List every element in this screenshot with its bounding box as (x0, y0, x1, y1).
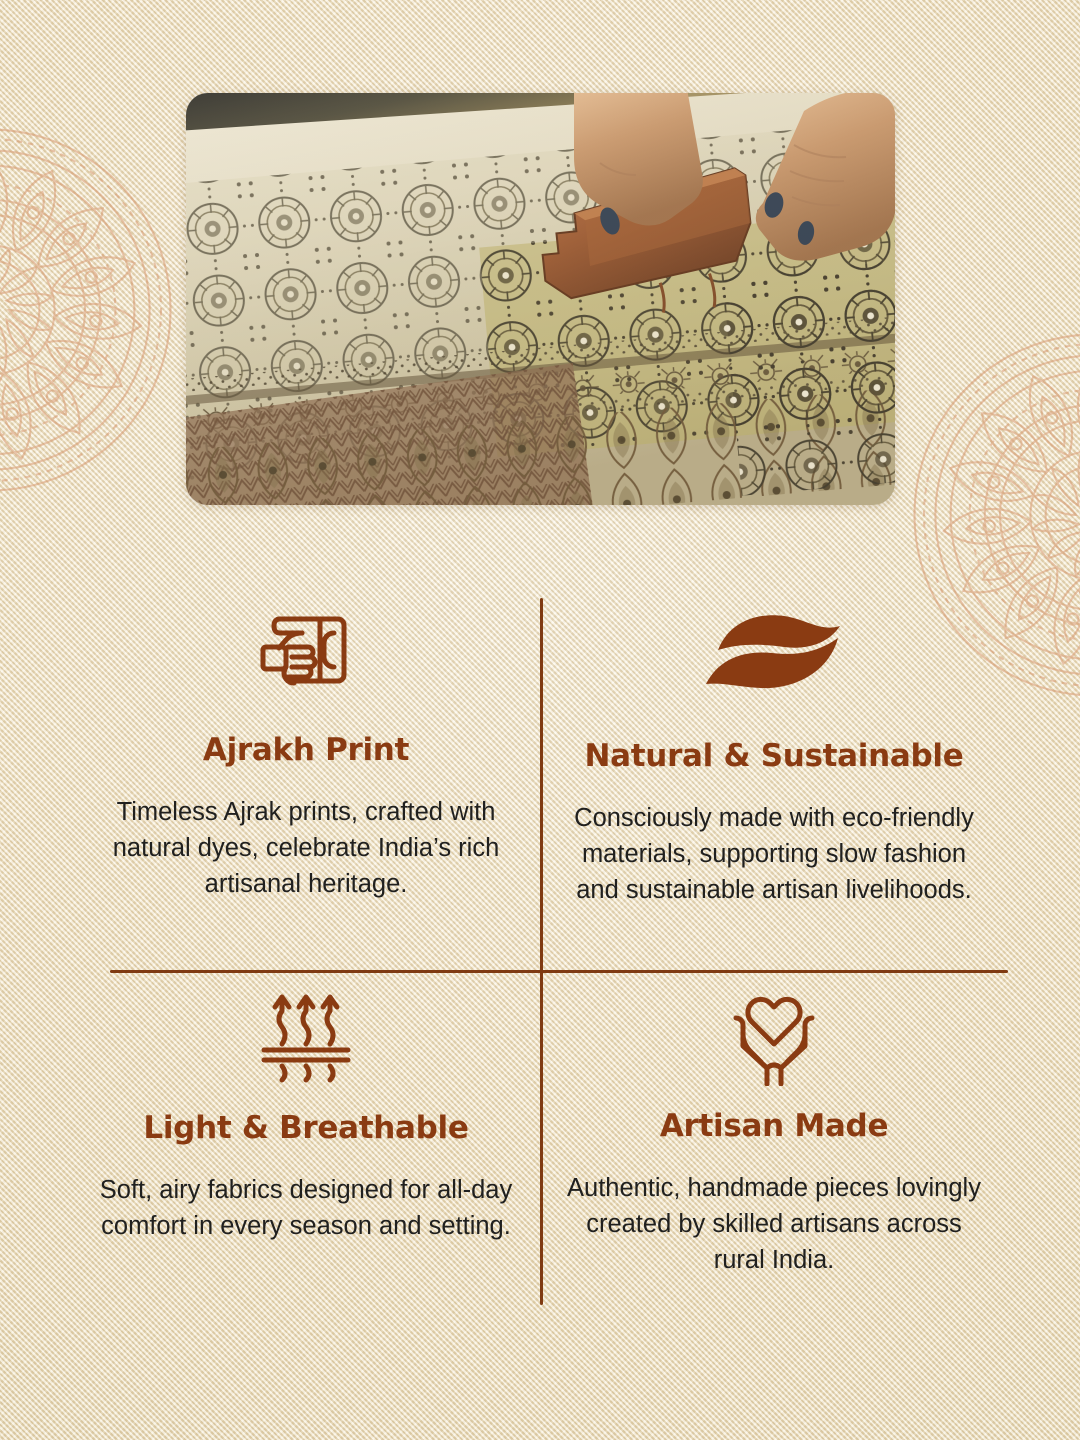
mandala-left-decoration (0, 120, 180, 500)
hand-block-stamp-icon (258, 602, 354, 698)
feature-title: Light & Breathable (143, 1110, 468, 1146)
feature-card-ajrakh-print[interactable]: Ajrakh Print Timeless Ajrak prints, craf… (72, 602, 540, 903)
feature-description: Authentic, handmade pieces lovingly crea… (564, 1170, 984, 1279)
horizontal-divider (110, 970, 1008, 973)
breathable-airflow-icon (258, 990, 354, 1086)
feature-title: Artisan Made (660, 1108, 888, 1144)
feature-card-natural-sustainable[interactable]: Natural & Sustainable Consciously made w… (540, 602, 1008, 909)
feature-title: Ajrakh Print (203, 732, 409, 768)
hands-holding-heart-icon (724, 990, 824, 1086)
feature-description: Soft, airy fabrics designed for all-day … (96, 1172, 516, 1244)
feature-card-light-breathable[interactable]: Light & Breathable Soft, airy fabrics de… (72, 990, 540, 1244)
feature-description: Timeless Ajrak prints, crafted with natu… (96, 794, 516, 903)
feature-grid: Ajrakh Print Timeless Ajrak prints, craf… (72, 598, 1008, 1318)
feature-description: Consciously made with eco-friendly mater… (562, 800, 986, 909)
feature-title: Natural & Sustainable (585, 738, 964, 774)
feature-card-artisan-made[interactable]: Artisan Made Authentic, handmade pieces … (540, 990, 1008, 1279)
leaf-icon (702, 602, 846, 698)
hero-image (186, 93, 895, 505)
poster-canvas: Ajrakh Print Timeless Ajrak prints, craf… (0, 0, 1080, 1440)
hero-image-artwork (186, 93, 895, 505)
